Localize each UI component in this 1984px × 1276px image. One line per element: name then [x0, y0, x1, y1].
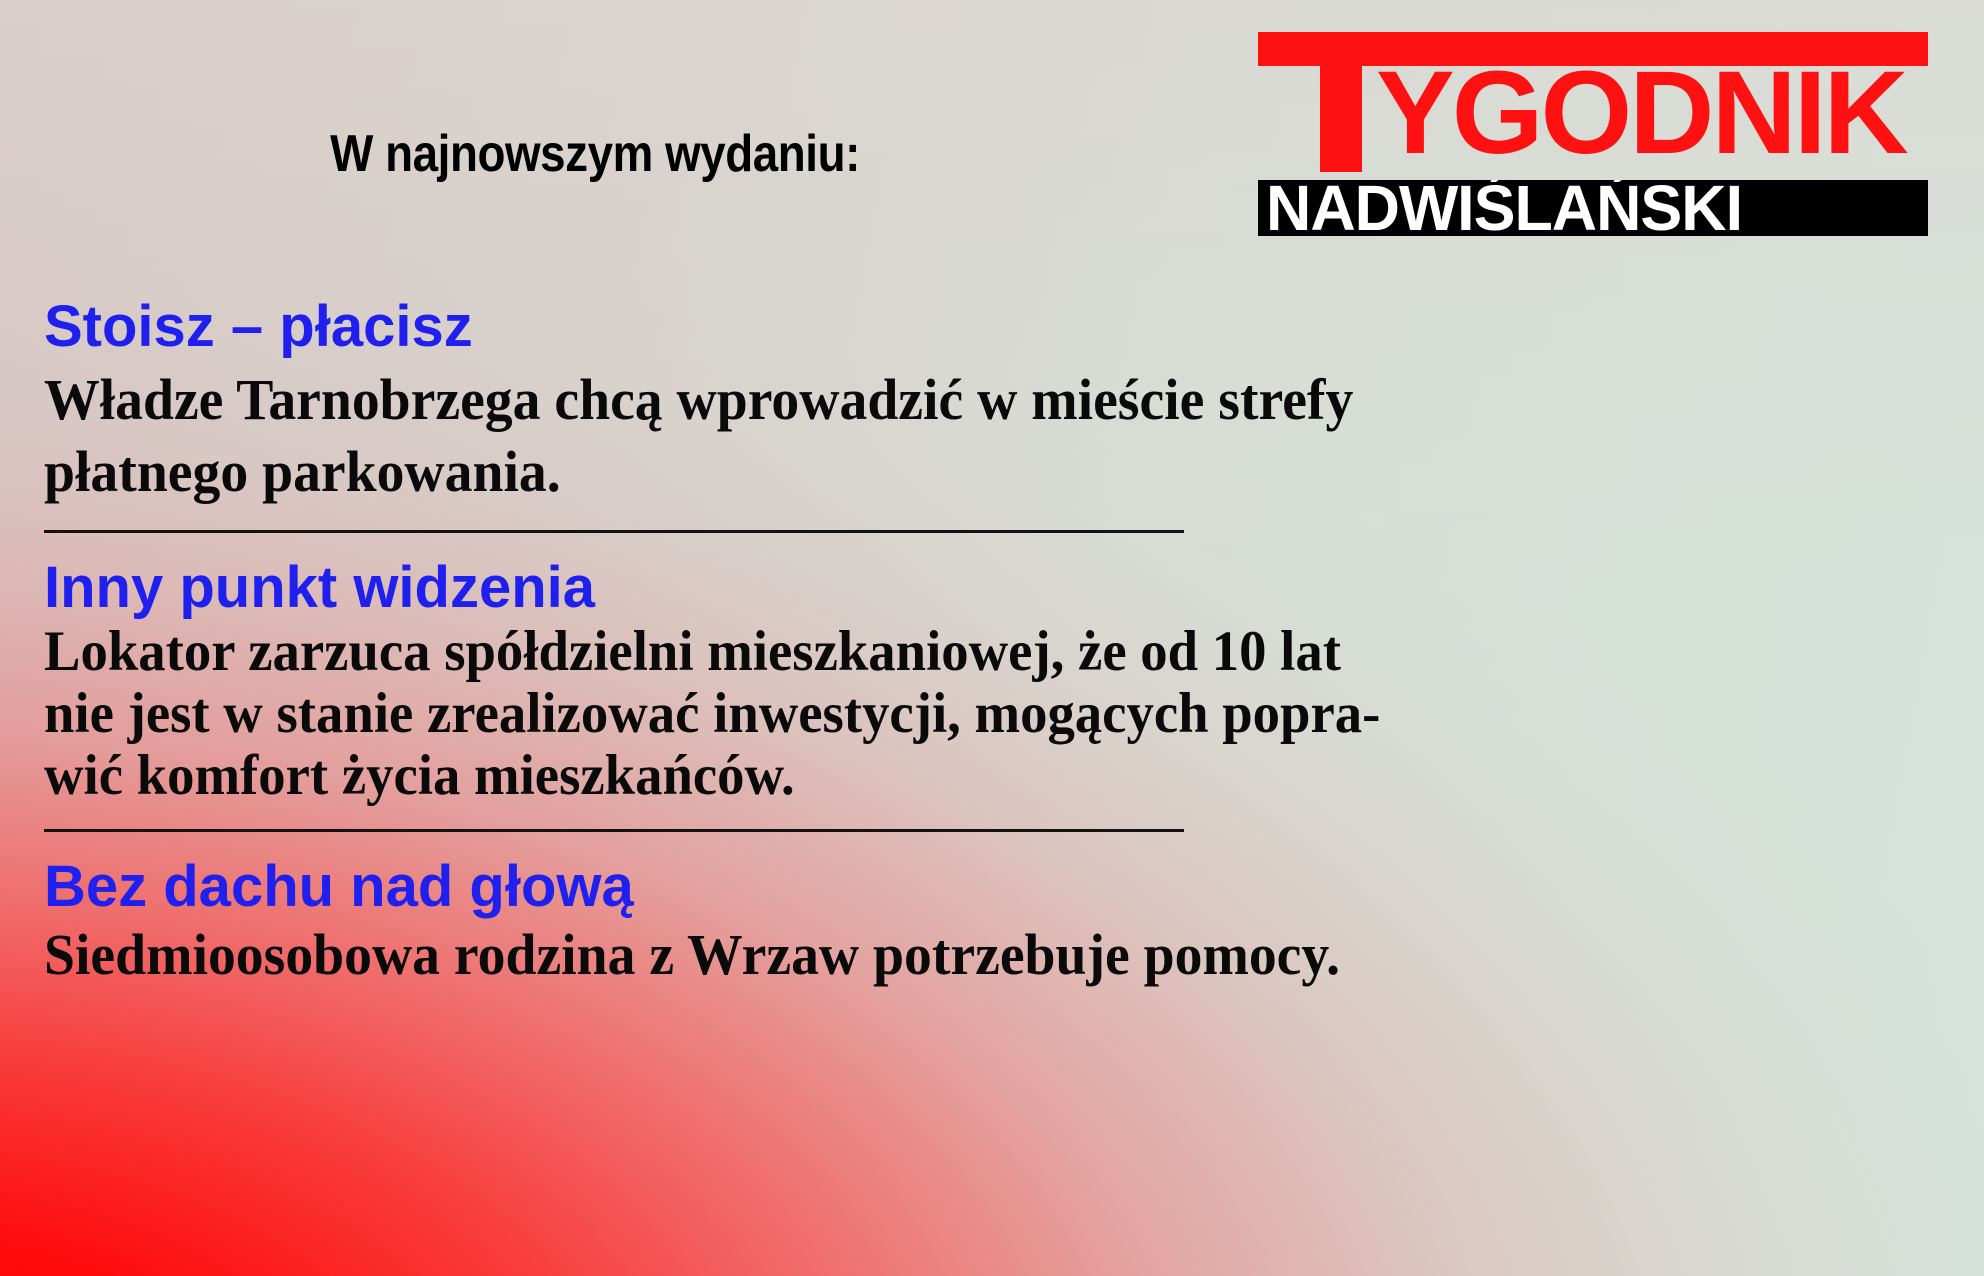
article-item: Stoisz – płacisz Władze Tarnobrzega chcą… — [44, 296, 1944, 508]
article-summary-line: Lokator zarzuca spółdzielni mieszkaniowe… — [44, 621, 1868, 683]
masthead-t-stem — [1320, 66, 1362, 172]
kicker-text: W najnowszym wydaniu: — [71, 124, 1118, 184]
poster-content: W najnowszym wydaniu: YGODNIK NADWIŚLAŃS… — [0, 0, 1984, 1276]
article-summary-line: Siedmioosobowa rodzina z Wrzaw potrzebuj… — [44, 922, 1868, 988]
article-headline: Stoisz – płacisz — [44, 296, 1944, 358]
article-divider — [44, 829, 1184, 832]
poster-canvas: W najnowszym wydaniu: YGODNIK NADWIŚLAŃS… — [0, 0, 1984, 1276]
article-item: Inny punkt widzenia Lokator zarzuca spół… — [44, 557, 1944, 807]
masthead-top-row: YGODNIK — [1258, 32, 1928, 172]
article-headline: Inny punkt widzenia — [44, 557, 1944, 619]
masthead-wordmark: YGODNIK — [1376, 54, 1906, 172]
article-summary: Siedmioosobowa rodzina z Wrzaw potrzebuj… — [44, 922, 1868, 988]
article-item: Bez dachu nad głową Siedmioosobowa rodzi… — [44, 856, 1944, 988]
article-summary: Władze Tarnobrzega chcą wprowadzić w mie… — [44, 364, 1868, 508]
masthead-logo: YGODNIK NADWIŚLAŃSKI — [1258, 32, 1928, 172]
article-summary-line: Władze Tarnobrzega chcą wprowadzić w mie… — [44, 364, 1868, 436]
article-list: Stoisz – płacisz Władze Tarnobrzega chcą… — [44, 296, 1944, 988]
masthead-subtitle-bar: NADWIŚLAŃSKI — [1258, 180, 1928, 236]
article-summary-line: wić komfort życia mieszkańców. — [44, 745, 1868, 807]
article-summary-line: nie jest w stanie zrealizować inwestycji… — [44, 683, 1868, 745]
article-summary-line: płatnego parkowania. — [44, 436, 1868, 508]
article-summary: Lokator zarzuca spółdzielni mieszkaniowe… — [44, 621, 1868, 807]
article-headline: Bez dachu nad głową — [44, 856, 1944, 918]
article-divider — [44, 530, 1184, 533]
masthead-subtitle: NADWIŚLAŃSKI — [1266, 180, 1742, 236]
